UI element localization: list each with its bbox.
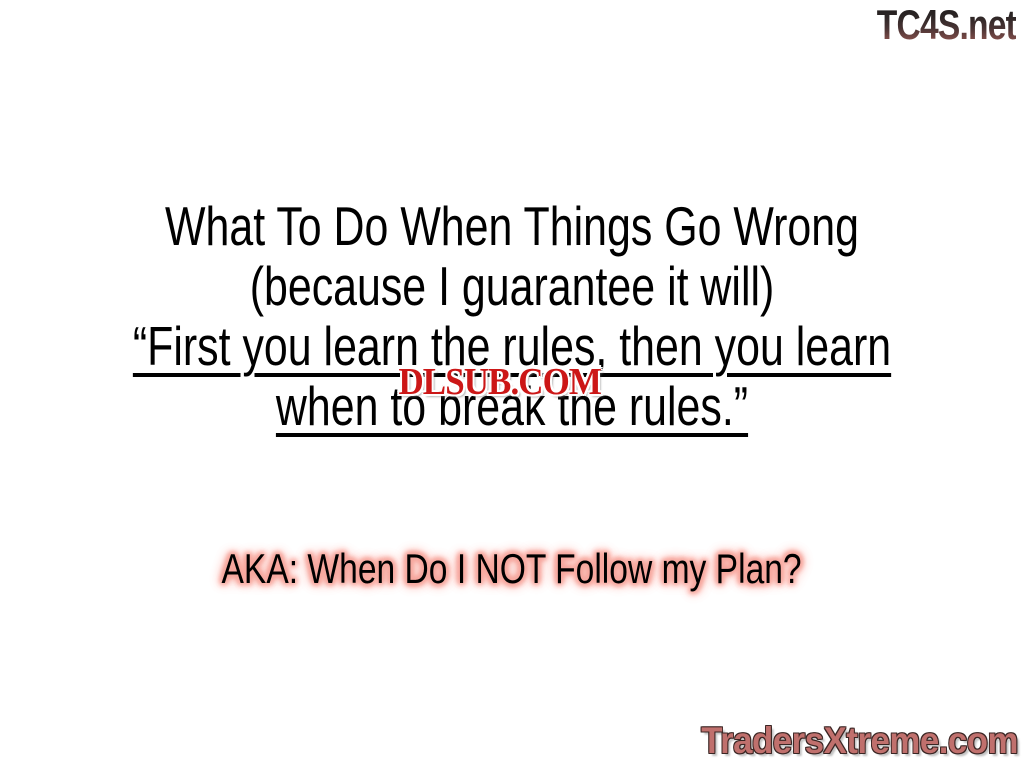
tradersxtreme-logo: TradersXtreme.com bbox=[701, 720, 1018, 762]
presentation-slide: TC4S.net What To Do When Things Go Wrong… bbox=[0, 0, 1024, 768]
title-line-1: What To Do When Things Go Wrong bbox=[113, 196, 912, 256]
tc4s-logo: TC4S.net bbox=[877, 2, 1016, 48]
subtitle-block: AKA: When Do I NOT Follow my Plan? bbox=[0, 544, 1024, 594]
title-line-2: (because I guarantee it will) bbox=[113, 256, 912, 316]
subtitle-text: AKA: When Do I NOT Follow my Plan? bbox=[222, 544, 802, 594]
dlsub-watermark: DLSUB.COM bbox=[370, 362, 629, 402]
